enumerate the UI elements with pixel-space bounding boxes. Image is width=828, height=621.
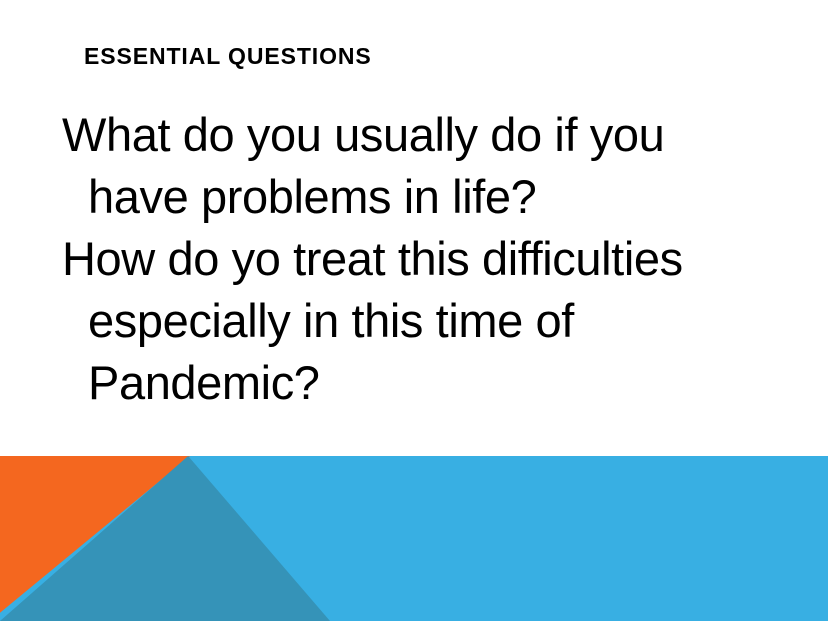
question-item: How do yo treat this difficulties especi… — [62, 228, 762, 414]
slide-title: ESSENTIAL QUESTIONS — [84, 44, 764, 69]
bottom-decorative-band — [0, 456, 828, 621]
presentation-slide: ESSENTIAL QUESTIONS What do you usually … — [0, 0, 828, 621]
question-item: What do you usually do if you have probl… — [62, 104, 762, 228]
slide-body: What do you usually do if you have probl… — [62, 104, 762, 414]
